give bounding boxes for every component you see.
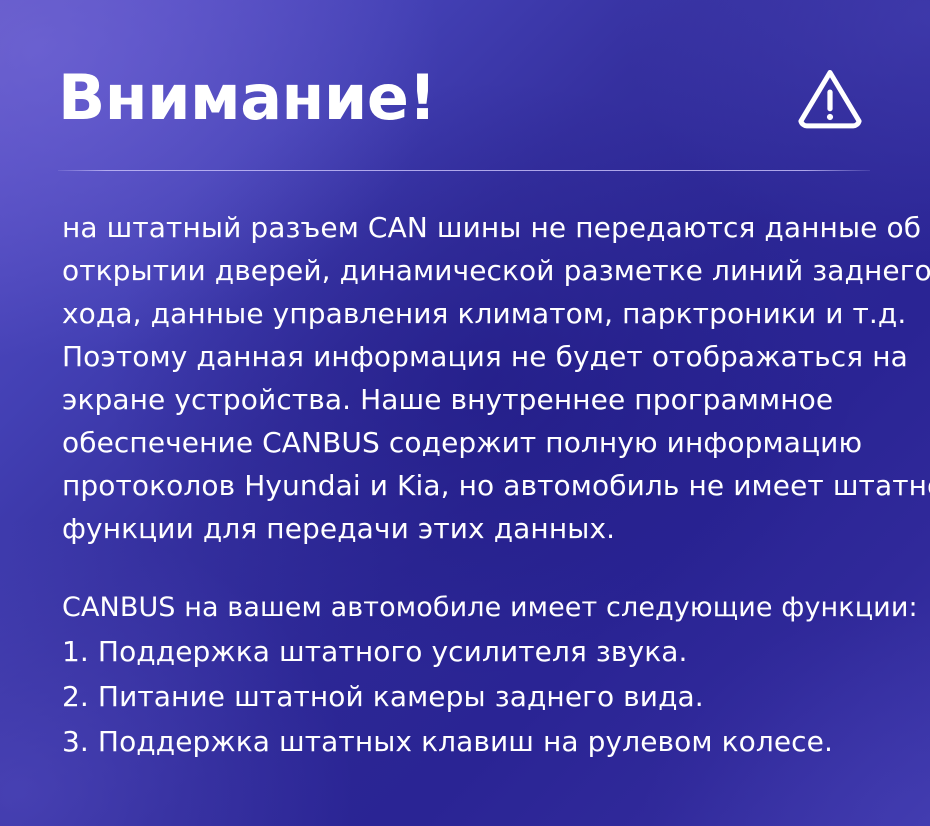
list-item: 1. Поддержка штатного усилителя звука. bbox=[62, 629, 880, 674]
warning-triangle-icon bbox=[792, 60, 868, 136]
paragraph-line: открытии дверей, динамической разметке л… bbox=[62, 249, 880, 292]
list-intro-text: CANBUS на вашем автомобиле имеет следующ… bbox=[62, 586, 880, 629]
list-item: 3. Поддержка штатных клавиш на рулевом к… bbox=[62, 719, 880, 764]
paragraph-line: функции для передачи этих данных. bbox=[62, 507, 880, 550]
paragraph-line: на штатный разъем CAN шины не передаются… bbox=[62, 206, 880, 249]
warning-poster: Внимание! на штатный разъем CAN шины не … bbox=[0, 0, 930, 826]
paragraph-line: Поэтому данная информация не будет отобр… bbox=[62, 335, 880, 378]
paragraph-line: обеспечение CANBUS содержит полную инфор… bbox=[62, 421, 880, 464]
functions-list-block: CANBUS на вашем автомобиле имеет следующ… bbox=[62, 586, 880, 764]
paragraph-line: протоколов Hyundai и Kia, но автомобиль … bbox=[62, 464, 880, 507]
list-item: 2. Питание штатной камеры заднего вида. bbox=[62, 674, 880, 719]
poster-header: Внимание! bbox=[58, 52, 872, 144]
header-divider bbox=[58, 170, 870, 171]
paragraph-line: хода, данные управления климатом, парктр… bbox=[62, 292, 880, 335]
notice-paragraph: на штатный разъем CAN шины не передаются… bbox=[62, 206, 880, 550]
paragraph-line: экране устройства. Наше внутреннее прогр… bbox=[62, 378, 880, 421]
page-title: Внимание! bbox=[58, 67, 436, 129]
